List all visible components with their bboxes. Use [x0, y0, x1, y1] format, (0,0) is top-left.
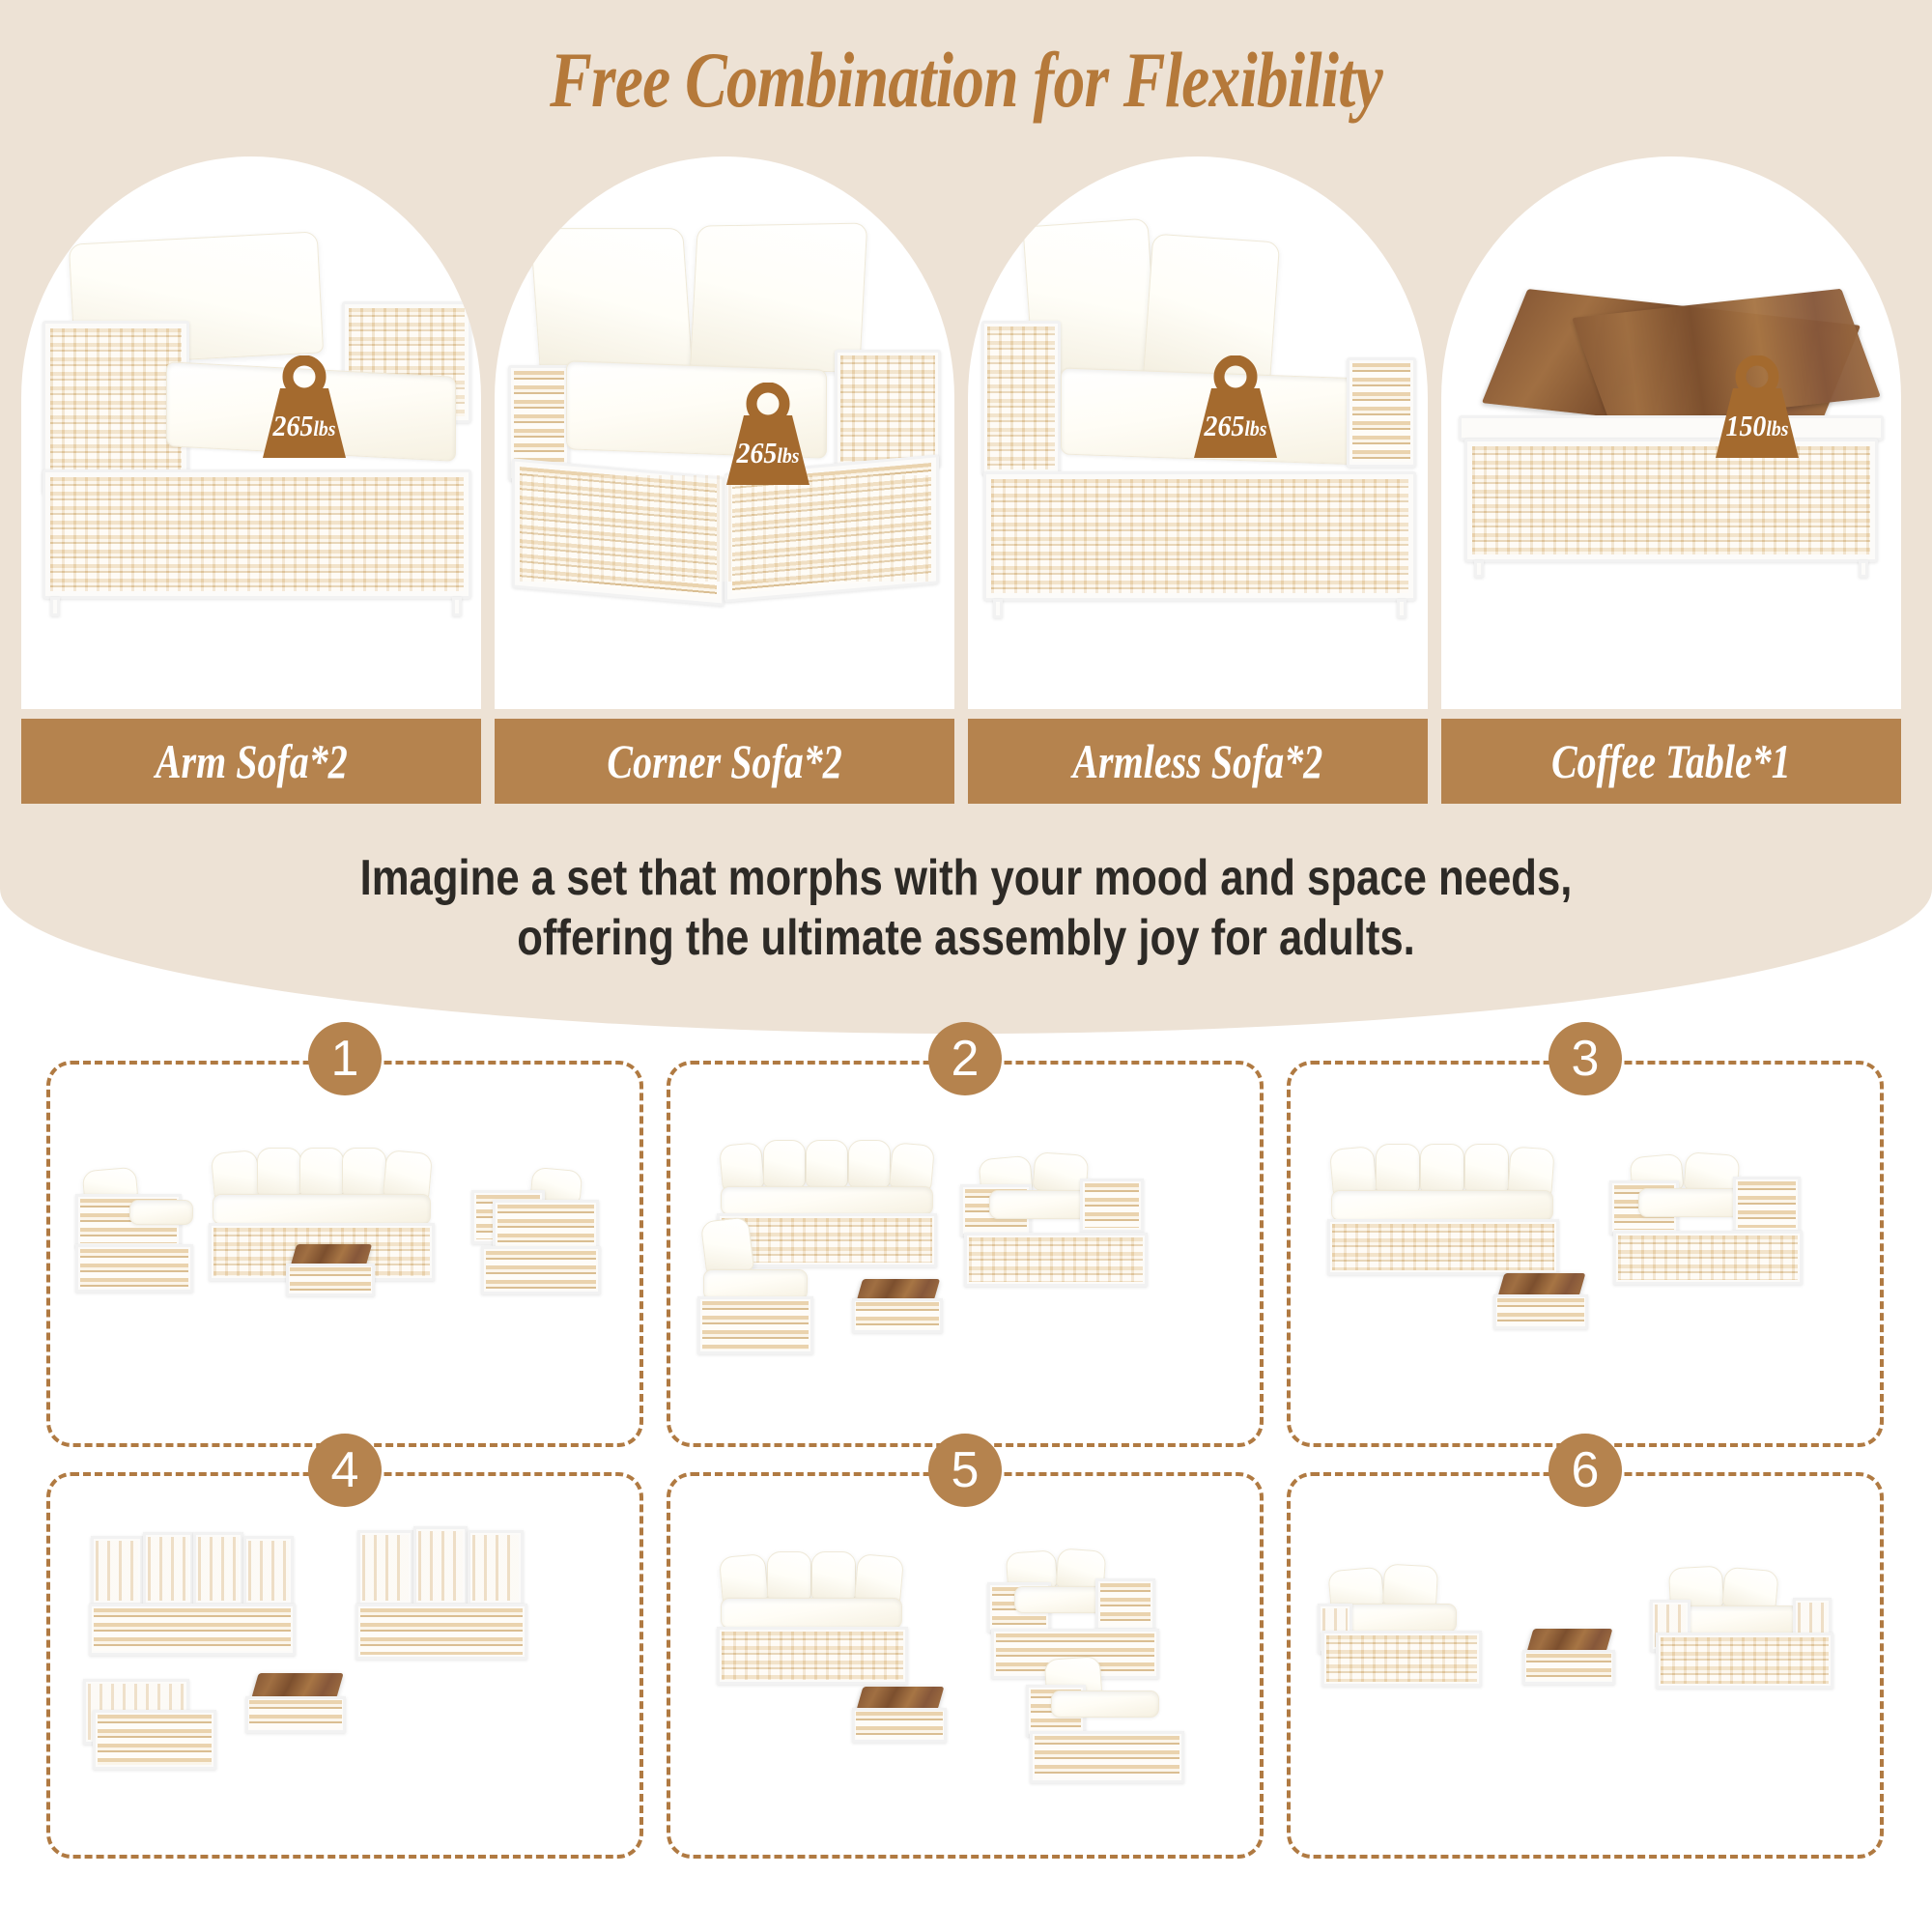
arrangement-box-5[interactable]: 5 — [667, 1472, 1264, 1859]
product-card-coffee-table[interactable]: 150lbs Coffee Table*1 — [1441, 156, 1901, 806]
arrangement-box-3[interactable]: 3 — [1287, 1061, 1884, 1447]
arrangement-box-2[interactable]: 2 — [667, 1061, 1264, 1447]
product-card-corner-sofa[interactable]: 265lbs Corner Sofa*2 — [495, 156, 954, 806]
top-beige-panel: Free Combination for Flexibility — [0, 0, 1932, 1034]
product-card-armless-sofa[interactable]: 265lbs Armless Sofa*2 — [968, 156, 1428, 806]
page-title: Free Combination for Flexibility — [193, 35, 1739, 126]
arrangement-box-1[interactable]: 1 — [46, 1061, 643, 1447]
arrangement-number-3: 3 — [1548, 1022, 1622, 1095]
product-card-arm-sofa[interactable]: 265lbs Arm Sofa*2 — [21, 156, 481, 806]
product-label-bar-arm-sofa: Arm Sofa*2 — [21, 719, 481, 804]
arrangement-number-5: 5 — [928, 1434, 1002, 1507]
arm-sofa-illustration — [21, 226, 481, 709]
arrangement-number-6: 6 — [1548, 1434, 1622, 1507]
arrangement-illustration-3 — [1291, 1065, 1880, 1443]
product-label-bar-corner-sofa: Corner Sofa*2 — [495, 719, 954, 804]
product-label-arm-sofa: Arm Sofa*2 — [156, 733, 348, 789]
product-image-coffee-table — [1441, 156, 1901, 709]
description-line-1: Imagine a set that morphs with your mood… — [155, 848, 1777, 908]
description-line-2: offering the ultimate assembly joy for a… — [155, 908, 1777, 968]
arrangement-illustration-6 — [1291, 1476, 1880, 1855]
product-label-coffee-table: Coffee Table*1 — [1551, 733, 1791, 789]
arrangement-grid: 1 — [46, 1061, 1886, 1859]
description-block: Imagine a set that morphs with your mood… — [155, 848, 1777, 968]
arrangement-number-1: 1 — [308, 1022, 382, 1095]
product-image-arm-sofa — [21, 156, 481, 709]
product-image-armless-sofa — [968, 156, 1428, 709]
arrangement-box-6[interactable]: 6 — [1287, 1472, 1884, 1859]
arrangement-illustration-1 — [50, 1065, 639, 1443]
product-label-bar-coffee-table: Coffee Table*1 — [1441, 719, 1901, 804]
arrangement-number-2: 2 — [928, 1022, 1002, 1095]
arrangement-number-4: 4 — [308, 1434, 382, 1507]
product-label-bar-armless-sofa: Armless Sofa*2 — [968, 719, 1428, 804]
coffee-table-illustration — [1441, 301, 1901, 707]
product-card-row: 265lbs Arm Sofa*2 — [21, 156, 1911, 806]
arrangement-illustration-2 — [670, 1065, 1260, 1443]
corner-sofa-illustration — [495, 220, 954, 709]
arrangement-illustration-4 — [50, 1476, 639, 1855]
product-label-corner-sofa: Corner Sofa*2 — [607, 733, 841, 789]
arrangement-box-4[interactable]: 4 — [46, 1472, 643, 1859]
product-label-armless-sofa: Armless Sofa*2 — [1073, 733, 1323, 789]
armless-sofa-illustration — [968, 213, 1428, 709]
product-image-corner-sofa — [495, 156, 954, 709]
arrangement-illustration-5 — [670, 1476, 1260, 1855]
